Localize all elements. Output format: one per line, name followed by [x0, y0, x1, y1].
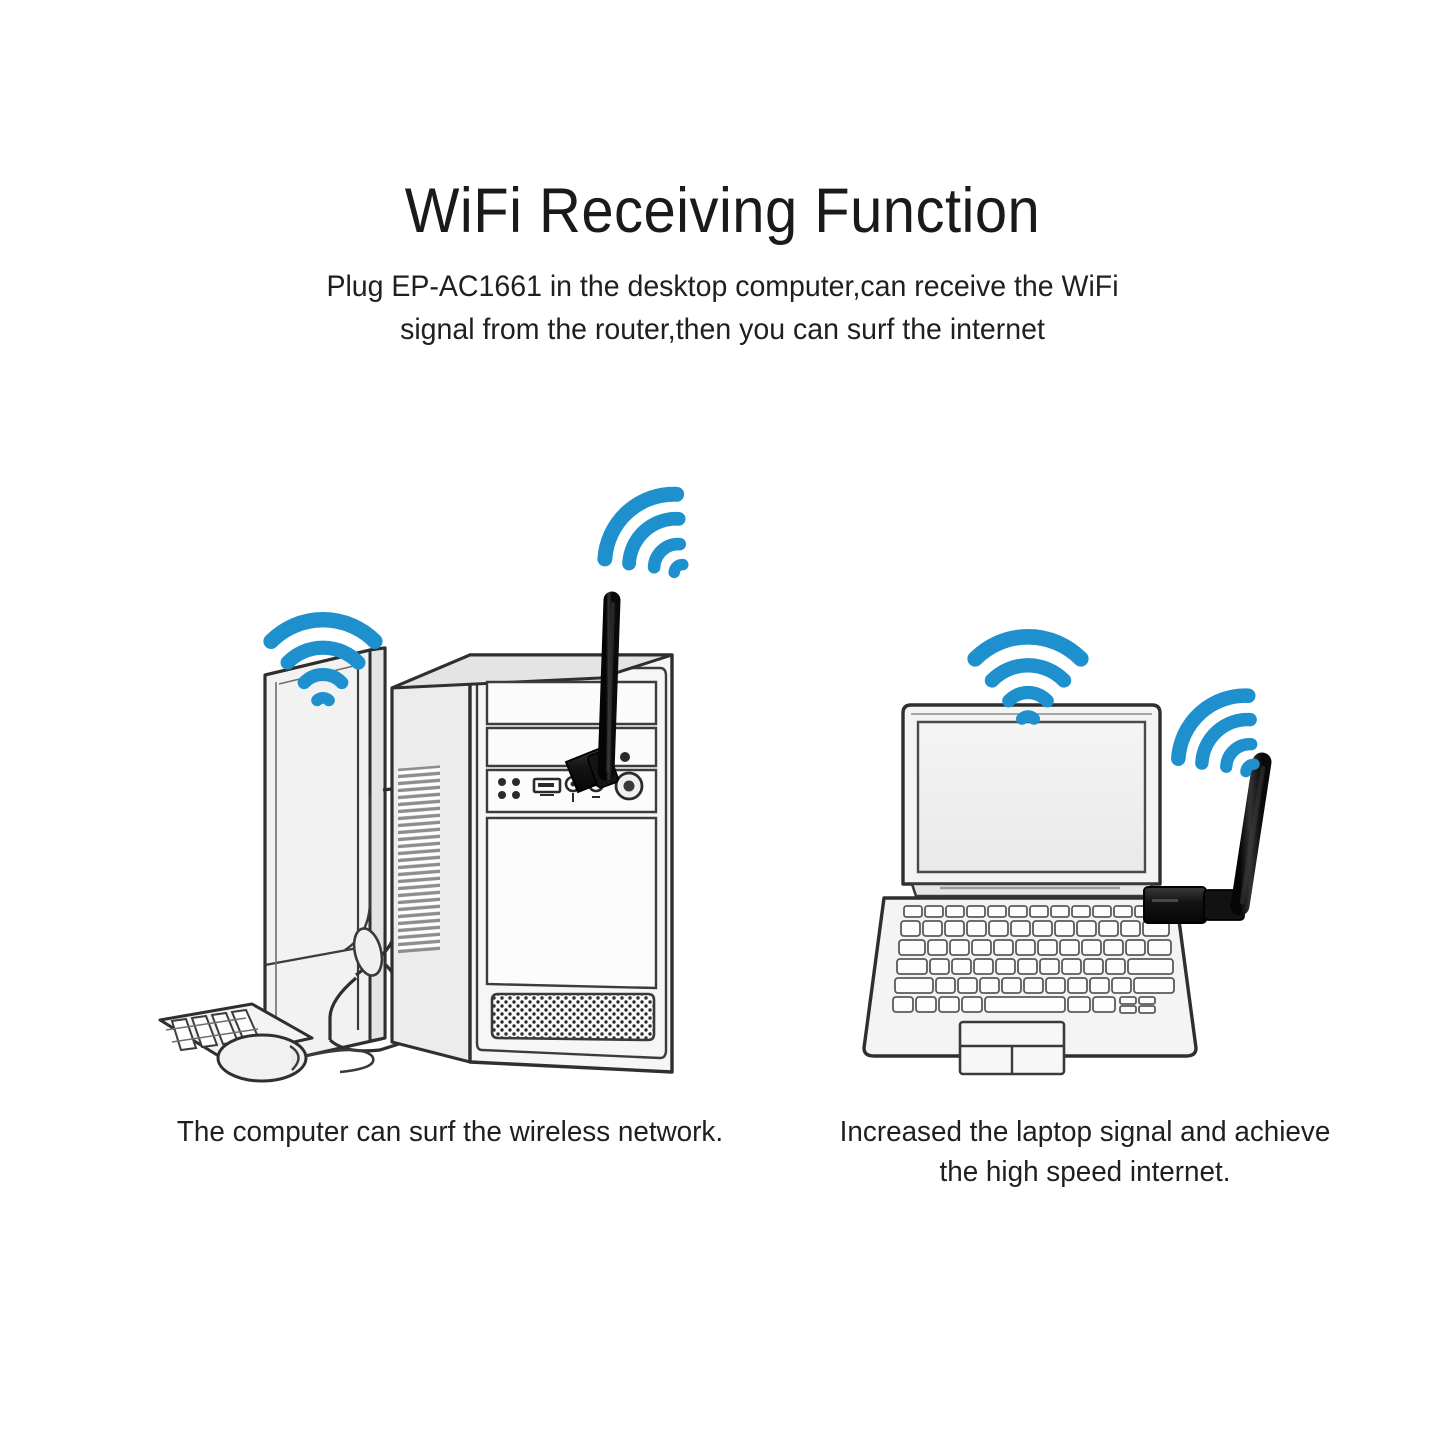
- caption-laptop: Increased the laptop signal and achieve …: [773, 1112, 1397, 1192]
- illustration-svg: [0, 0, 1445, 1445]
- illustration-stage: [0, 0, 1445, 1445]
- monitor: [265, 648, 385, 1065]
- laptop-screen: [903, 705, 1160, 884]
- wifi-signal-icon-desktop-adapter: [592, 480, 715, 601]
- trackpad: [960, 1022, 1064, 1074]
- caption-desktop-line-1: The computer can surf the wireless netwo…: [104, 1112, 795, 1152]
- spacebar-key: [985, 997, 1065, 1012]
- infographic-page: WiFi Receiving Function Plug EP-AC1661 i…: [0, 0, 1445, 1445]
- tower-case: [392, 655, 672, 1072]
- laptop-keyboard: [893, 906, 1174, 1013]
- usb-wifi-adapter-laptop: [1144, 762, 1263, 923]
- desktop-computer-illustration: [160, 600, 672, 1081]
- caption-desktop: The computer can surf the wireless netwo…: [104, 1112, 795, 1152]
- side-vents: [398, 765, 440, 953]
- laptop-hinge: [912, 884, 1152, 896]
- caption-laptop-line-1: Increased the laptop signal and achieve: [773, 1112, 1397, 1152]
- caption-laptop-line-2: the high speed internet.: [773, 1152, 1397, 1192]
- bottom-mesh-grille: [492, 994, 654, 1040]
